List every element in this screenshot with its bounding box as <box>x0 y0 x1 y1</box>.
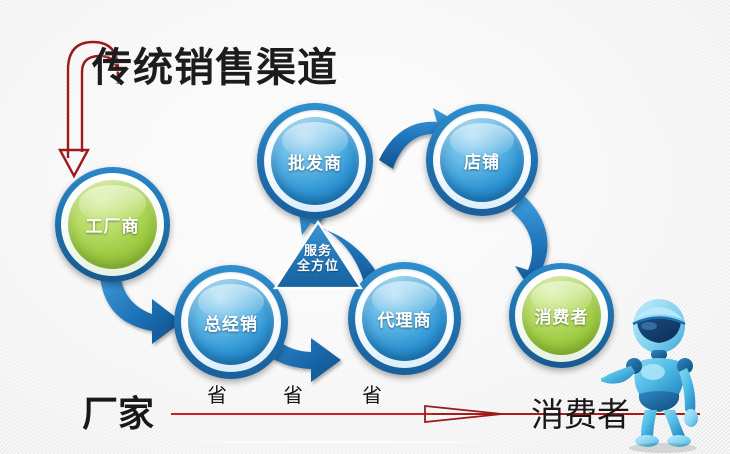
service-badge-text: 服务 全方位 <box>272 244 364 274</box>
service-badge: 服务 全方位 <box>272 219 364 291</box>
node-agent[interactable]: 代理商 <box>348 262 461 375</box>
node-core: 批发商 <box>271 117 359 205</box>
red-hook-arrow-head <box>60 150 88 176</box>
robot-hips <box>639 391 679 412</box>
robot-neck <box>651 350 667 359</box>
robot-hand-right <box>684 409 698 427</box>
node-label-consumer: 消费者 <box>535 303 589 328</box>
diagram-title: 传统销售渠道 <box>92 44 338 92</box>
service-badge-line1: 服务 <box>272 244 364 259</box>
robot-leg-left <box>641 410 657 436</box>
robot-arm-left <box>601 366 635 384</box>
robot-leg-right <box>663 410 685 436</box>
footer-left-label: 厂家 <box>82 385 154 437</box>
node-core: 店铺 <box>440 118 524 202</box>
node-label-distributor: 总经销 <box>204 310 258 335</box>
node-factory[interactable]: 工厂商 <box>55 167 170 282</box>
savings-marker-2: 省 <box>283 379 303 408</box>
node-distributor[interactable]: 总经销 <box>174 265 288 379</box>
floor-highlight-line <box>165 441 520 443</box>
node-label-agent: 代理商 <box>378 306 432 331</box>
node-shop[interactable]: 店铺 <box>426 104 538 216</box>
robot-shadow <box>629 443 697 453</box>
node-label-wholesaler: 批发商 <box>288 149 342 174</box>
node-consumer[interactable]: 消费者 <box>509 263 614 368</box>
node-wholesaler[interactable]: 批发商 <box>257 103 373 219</box>
robot-arm-right <box>679 368 695 414</box>
robot-chest-highlight <box>641 364 665 380</box>
robot-visor-glint <box>641 322 657 330</box>
service-badge-line2: 全方位 <box>272 259 364 274</box>
diagram-canvas: 传统销售渠道 工厂商 批发商 店铺 总经销 代理商 <box>0 0 730 454</box>
node-label-factory: 工厂商 <box>86 212 140 237</box>
node-core: 工厂商 <box>68 180 157 269</box>
node-label-shop: 店铺 <box>464 148 500 173</box>
node-core: 代理商 <box>362 276 447 361</box>
robot-figure-icon <box>601 296 725 454</box>
savings-marker-1: 省 <box>207 379 227 408</box>
node-core: 总经销 <box>188 279 274 365</box>
savings-marker-3: 省 <box>362 379 382 408</box>
node-core: 消费者 <box>522 276 601 355</box>
